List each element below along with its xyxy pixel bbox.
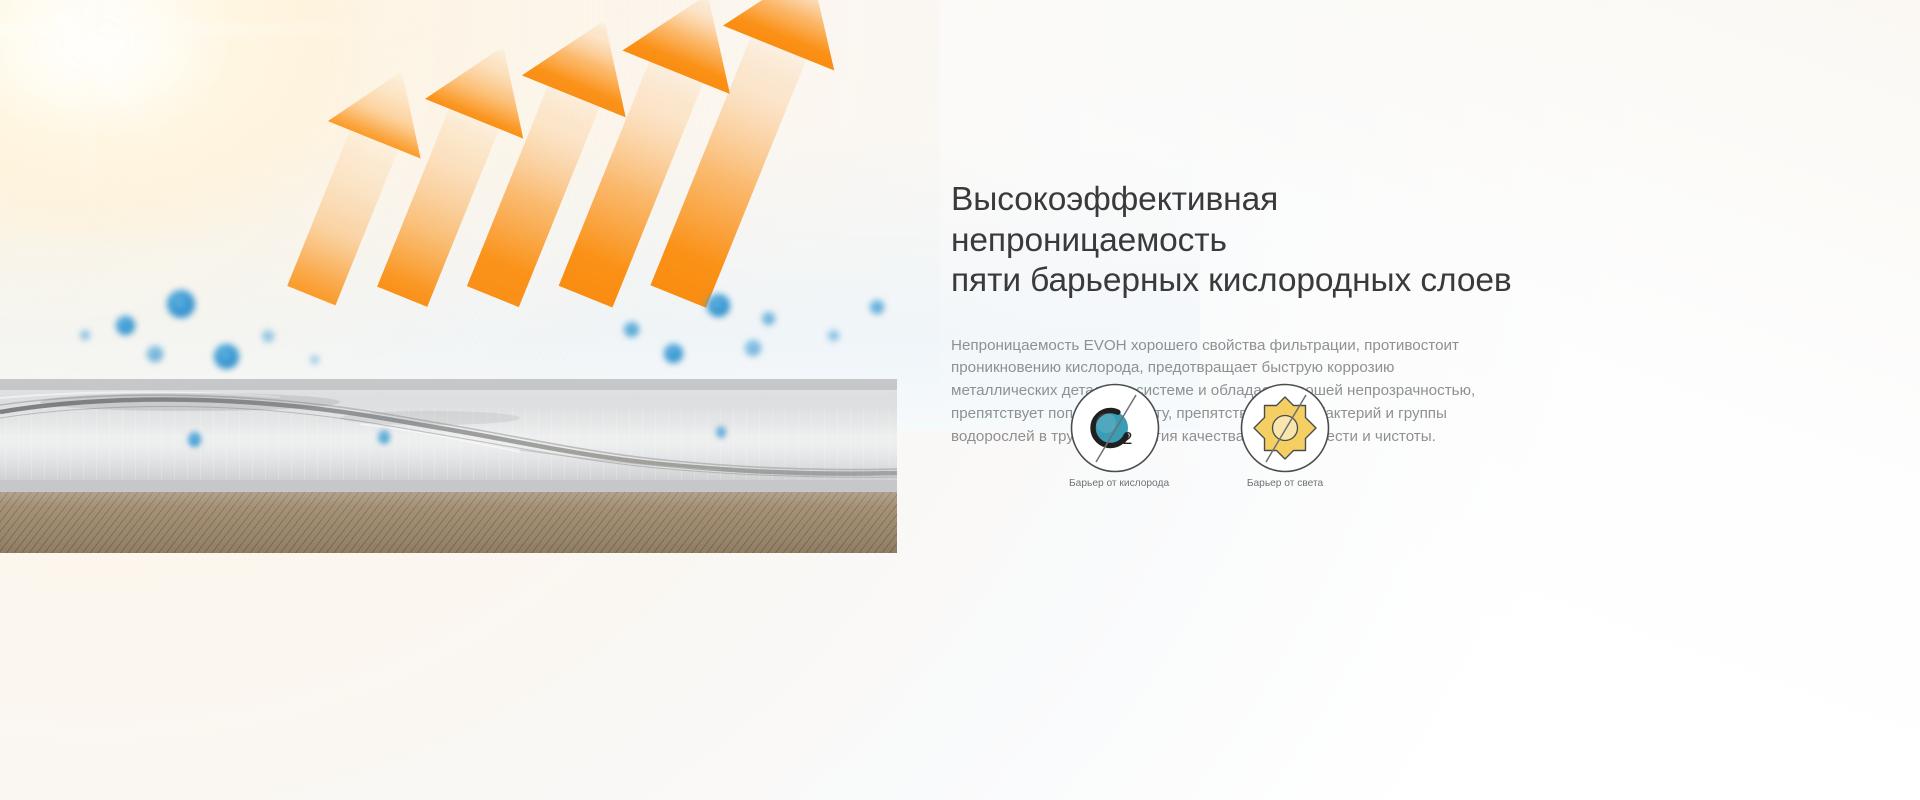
badge-light-label: Барьер от света (1239, 478, 1331, 489)
headline-line-2: пяти барьерных кислородных слоев (951, 261, 1521, 302)
water-layer (0, 390, 897, 480)
no-light-sun-icon (1239, 382, 1331, 474)
no-oxygen-icon: 2 (1069, 382, 1161, 474)
page-title: Высокоэффективная непроницаемость пяти б… (951, 180, 1521, 302)
promo-banner: Высокоэффективная непроницаемость пяти б… (0, 0, 1920, 800)
badge-oxygen-barrier: 2 Барьер от кислорода (1069, 382, 1161, 489)
evoh-barrier-layer (0, 489, 897, 553)
outer-gray-band (0, 379, 897, 390)
badge-light-barrier: Барьер от света (1239, 382, 1331, 489)
barrier-badges: 2 Барьер от кислорода Барьер от света (1069, 382, 1489, 492)
oxygen-bubbles-icon (0, 0, 900, 430)
svg-text:2: 2 (1123, 428, 1133, 448)
headline-line-1: Высокоэффективная непроницаемость (951, 181, 1278, 259)
badge-oxygen-label: Барьер от кислорода (1069, 478, 1161, 489)
